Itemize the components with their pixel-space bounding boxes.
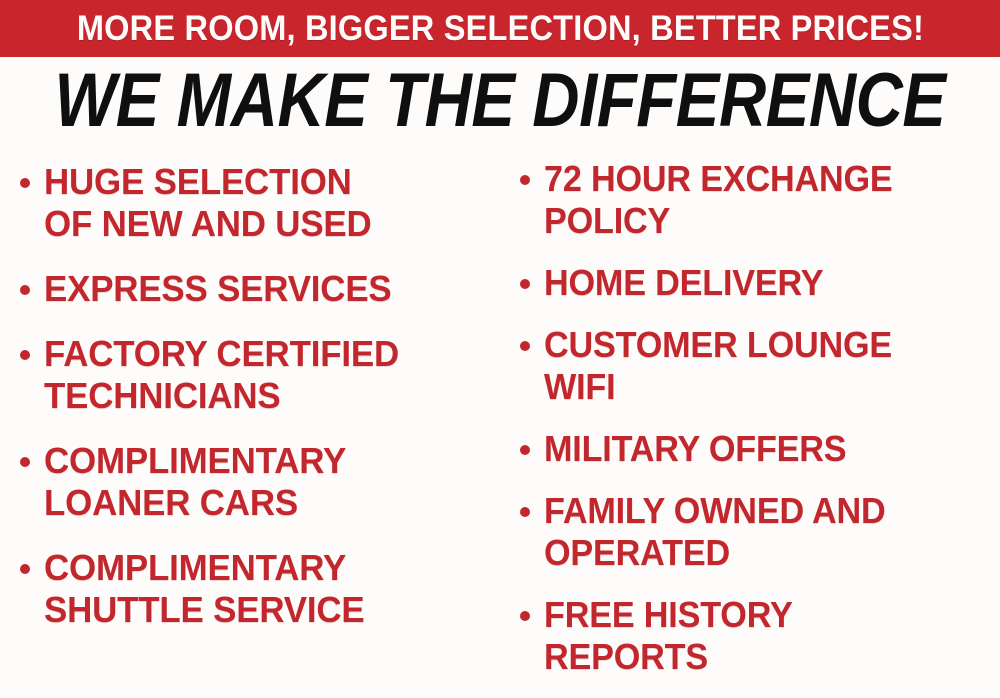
list-item: MILITARY OFFERS <box>520 428 1000 470</box>
list-item: HUGE SELECTION OF NEW AND USED <box>20 161 500 245</box>
bullet-dot-icon <box>520 279 530 289</box>
list-item-label: FAMILY OWNED AND OPERATED <box>544 490 886 574</box>
benefits-column-left: HUGE SELECTION OF NEW AND USED EXPRESS S… <box>0 150 500 654</box>
list-item-label: FREE HISTORY REPORTS <box>544 594 793 678</box>
bullet-dot-icon <box>20 285 30 295</box>
bullet-dot-icon <box>20 178 30 188</box>
list-item: FACTORY CERTIFIED TECHNICIANS <box>20 333 500 417</box>
bullet-dot-icon <box>520 445 530 455</box>
bullet-dot-icon <box>20 457 30 467</box>
list-item: HOME DELIVERY <box>520 262 1000 304</box>
list-item: FREE HISTORY REPORTS <box>520 594 1000 678</box>
list-item: FAMILY OWNED AND OPERATED <box>520 490 1000 574</box>
benefits-column-right: 72 HOUR EXCHANGE POLICY HOME DELIVERY CU… <box>500 150 1000 698</box>
list-item: COMPLIMENTARY SHUTTLE SERVICE <box>20 547 500 631</box>
list-item: EXPRESS SERVICES <box>20 268 500 310</box>
banner-headline-text: MORE ROOM, BIGGER SELECTION, BETTER PRIC… <box>76 11 923 46</box>
list-item-label: CUSTOMER LOUNGE WIFI <box>544 324 892 408</box>
list-item-label: COMPLIMENTARY LOANER CARS <box>44 440 346 524</box>
top-banner: MORE ROOM, BIGGER SELECTION, BETTER PRIC… <box>0 0 1000 57</box>
list-item-label: EXPRESS SERVICES <box>44 268 392 310</box>
list-item-label: COMPLIMENTARY SHUTTLE SERVICE <box>44 547 364 631</box>
headline-area: WE MAKE THE DIFFERENCE <box>0 62 1000 140</box>
bullet-dot-icon <box>20 350 30 360</box>
list-item-label: FACTORY CERTIFIED TECHNICIANS <box>44 333 399 417</box>
benefits-columns: HUGE SELECTION OF NEW AND USED EXPRESS S… <box>0 150 1000 694</box>
list-item-label: MILITARY OFFERS <box>544 428 846 470</box>
bullet-dot-icon <box>520 341 530 351</box>
list-item-label: 72 HOUR EXCHANGE POLICY <box>544 158 893 242</box>
list-item-label: HOME DELIVERY <box>544 262 823 304</box>
list-item: 72 HOUR EXCHANGE POLICY <box>520 158 1000 242</box>
list-item: COMPLIMENTARY LOANER CARS <box>20 440 500 524</box>
bullet-dot-icon <box>520 175 530 185</box>
bullet-dot-icon <box>520 507 530 517</box>
list-item-label: HUGE SELECTION OF NEW AND USED <box>44 161 372 245</box>
page-title: WE MAKE THE DIFFERENCE <box>54 63 945 139</box>
list-item: CUSTOMER LOUNGE WIFI <box>520 324 1000 408</box>
promo-poster: MORE ROOM, BIGGER SELECTION, BETTER PRIC… <box>0 0 1000 694</box>
bullet-dot-icon <box>520 611 530 621</box>
bullet-dot-icon <box>20 564 30 574</box>
